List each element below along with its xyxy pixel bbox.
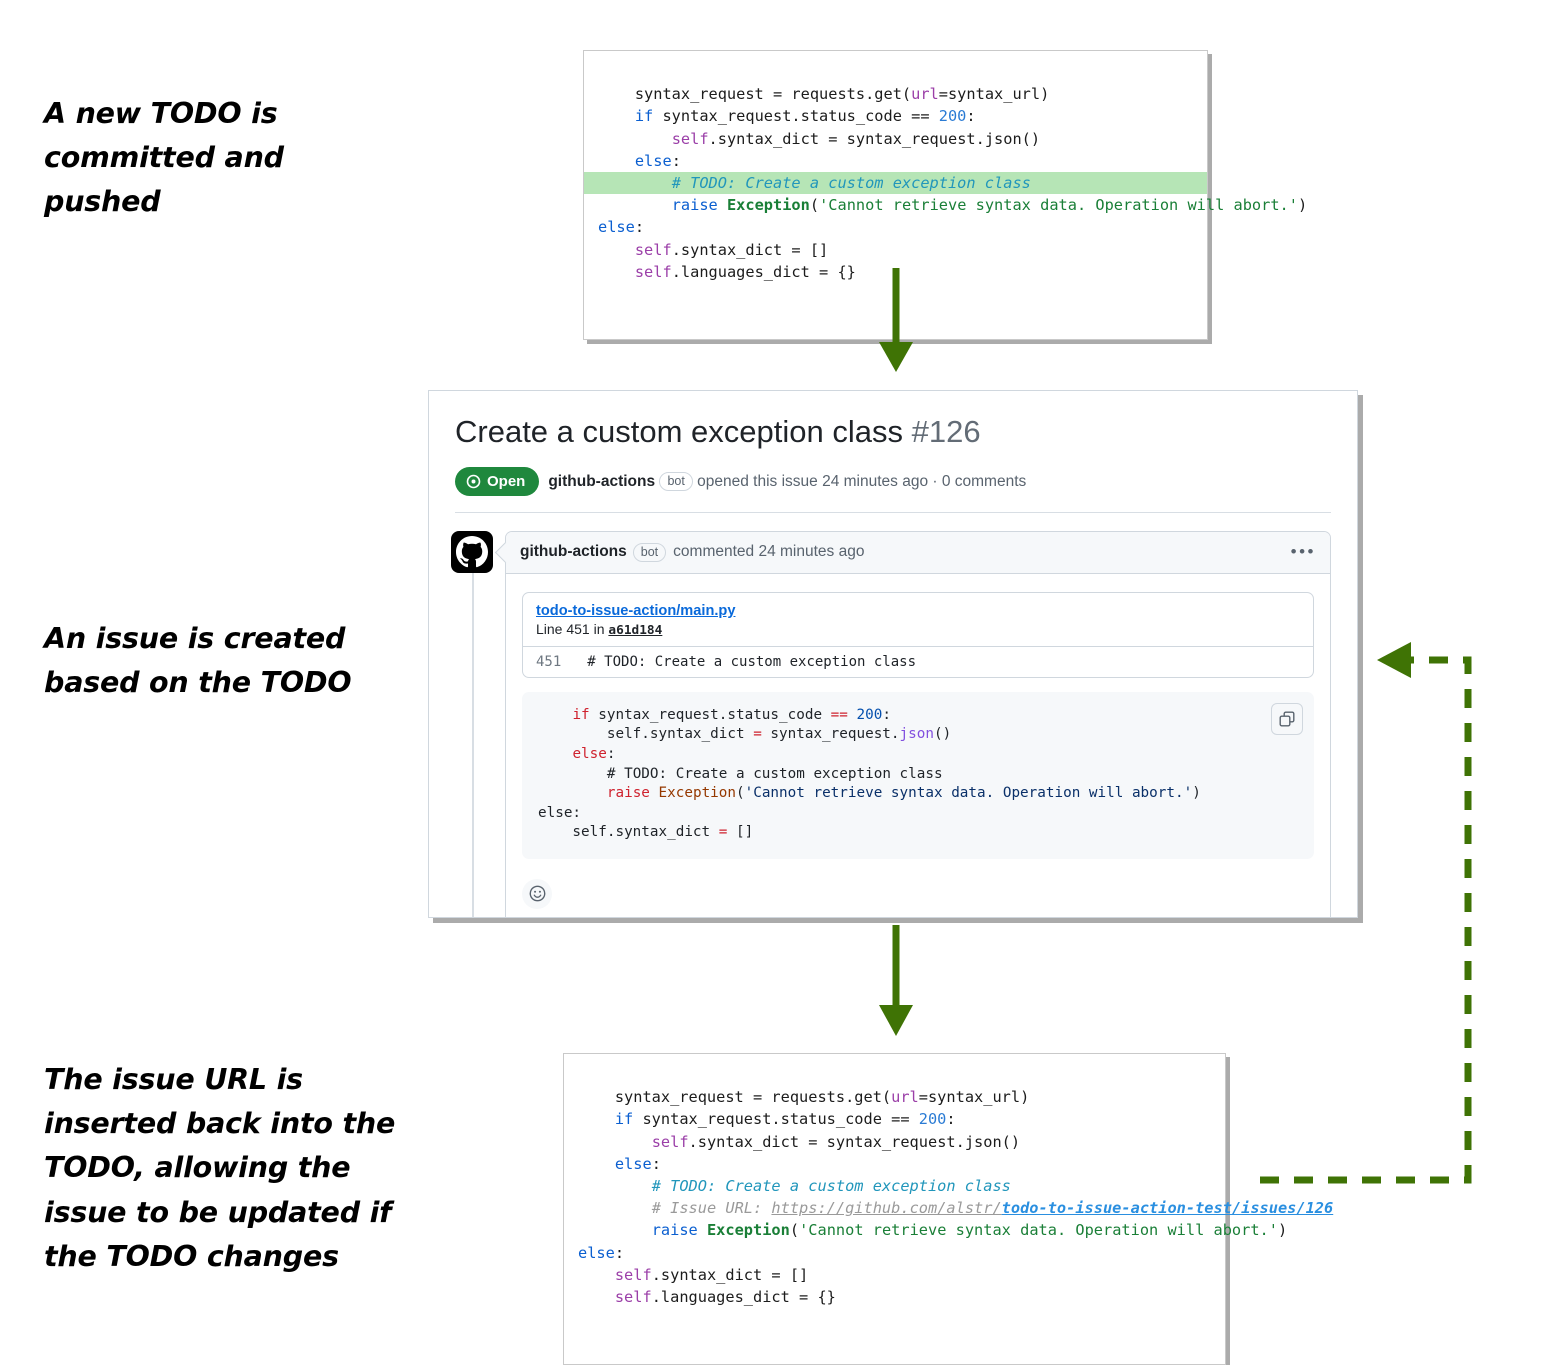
diagram-canvas: A new TODO is committed and pushed An is… bbox=[0, 0, 1543, 1351]
code-line-issue-url: # Issue URL: https://github.com/alstr/to… bbox=[578, 1197, 1213, 1219]
comment-author[interactable]: github-actions bbox=[520, 543, 627, 561]
code-editor-after: syntax_request = requests.get(url=syntax… bbox=[563, 1053, 1226, 1365]
comment-header: github-actions bot commented 24 minutes … bbox=[506, 532, 1330, 574]
code-line: self.syntax_dict = syntax_request.json() bbox=[578, 1131, 1213, 1153]
caption-step-2: An issue is created based on the TODO bbox=[44, 617, 374, 705]
permalink-commit-sha[interactable]: a61d184 bbox=[608, 623, 662, 638]
issue-title: Create a custom exception class #126 bbox=[455, 413, 1331, 451]
code-line: self.languages_dict = {} bbox=[578, 1286, 1213, 1308]
issue-author[interactable]: github-actions bbox=[548, 473, 655, 490]
caption-step-3: The issue URL is inserted back into the … bbox=[44, 1058, 404, 1279]
timeline-line bbox=[472, 573, 474, 918]
code-line: self.syntax_dict = syntax_request.json() bbox=[598, 128, 1195, 150]
code-line: syntax_request = requests.get(url=syntax… bbox=[598, 83, 1195, 105]
smiley-face-icon bbox=[529, 885, 546, 902]
code-line-highlighted-todo: # TODO: Create a custom exception class bbox=[584, 172, 1207, 194]
github-issue-panel: Create a custom exception class #126 Ope… bbox=[428, 390, 1358, 918]
reaction-row bbox=[506, 869, 1330, 918]
code-line: if syntax_request.status_code == 200: bbox=[578, 1108, 1213, 1130]
permalink-line-label: Line 451 in bbox=[536, 621, 605, 637]
issue-title-text: Create a custom exception class bbox=[455, 414, 903, 449]
github-octocat-icon bbox=[456, 536, 488, 568]
comment-box: github-actions bot commented 24 minutes … bbox=[505, 531, 1331, 918]
issue-meta-row: Open github-actions bot opened this issu… bbox=[455, 467, 1331, 513]
avatar[interactable] bbox=[451, 531, 493, 573]
code-line: # TODO: Create a custom exception class bbox=[578, 1175, 1213, 1197]
permalink-line-number: 451 bbox=[536, 654, 561, 670]
code-line: else: bbox=[598, 216, 1195, 238]
comment-bot-badge: bot bbox=[633, 543, 666, 562]
permalink-header: todo-to-issue-action/main.py Line 451 in… bbox=[523, 593, 1313, 646]
code-line: raise Exception('Cannot retrieve syntax … bbox=[598, 194, 1195, 216]
code-line: self.syntax_dict = [] bbox=[598, 239, 1195, 261]
status-badge-label: Open bbox=[487, 473, 525, 490]
issue-opened-text: opened this issue 24 minutes ago · 0 com… bbox=[697, 473, 1026, 490]
circle-dot-icon bbox=[466, 474, 481, 489]
permalink-line-info: Line 451 in a61d184 bbox=[536, 621, 1300, 638]
arrow-dashed-feedback-loop bbox=[1240, 640, 1540, 1200]
permalink-code-line: 451 # TODO: Create a custom exception cl… bbox=[523, 646, 1313, 677]
add-reaction-button[interactable] bbox=[522, 879, 552, 909]
comment-container: github-actions bot commented 24 minutes … bbox=[429, 513, 1357, 918]
status-badge-open[interactable]: Open bbox=[455, 467, 539, 496]
issue-url-prefix[interactable]: https://github.com/alstr/ bbox=[771, 1199, 1001, 1217]
arrow-down-commit-to-issue bbox=[868, 268, 928, 376]
issue-meta-text: github-actions bot opened this issue 24 … bbox=[548, 472, 1026, 491]
issue-header: Create a custom exception class #126 Ope… bbox=[429, 391, 1357, 513]
issue-number: #126 bbox=[912, 414, 981, 449]
code-line: else: bbox=[598, 150, 1195, 172]
code-line: self.syntax_dict = [] bbox=[578, 1264, 1213, 1286]
code-snippet: if syntax_request.status_code == 200: se… bbox=[522, 692, 1314, 859]
permalink-line-content: # TODO: Create a custom exception class bbox=[587, 654, 916, 670]
code-line: else: bbox=[578, 1153, 1213, 1175]
kebab-menu-icon[interactable]: ••• bbox=[1291, 547, 1316, 557]
code-line: raise Exception('Cannot retrieve syntax … bbox=[578, 1219, 1213, 1241]
permalink-file-link[interactable]: todo-to-issue-action/main.py bbox=[536, 603, 735, 619]
permalink-card: todo-to-issue-action/main.py Line 451 in… bbox=[522, 592, 1314, 678]
issue-url-suffix[interactable]: todo-to-issue-action-test/issues/126 bbox=[1002, 1199, 1334, 1217]
comment-body: todo-to-issue-action/main.py Line 451 in… bbox=[506, 574, 1330, 869]
caption-step-1: A new TODO is committed and pushed bbox=[44, 92, 344, 225]
code-line: syntax_request = requests.get(url=syntax… bbox=[578, 1086, 1213, 1108]
comment-action-text: commented 24 minutes ago bbox=[673, 543, 864, 561]
bot-badge: bot bbox=[659, 472, 692, 491]
arrow-down-issue-to-todo bbox=[868, 925, 928, 1040]
code-line: if syntax_request.status_code == 200: bbox=[598, 105, 1195, 127]
code-line: else: bbox=[578, 1242, 1213, 1264]
